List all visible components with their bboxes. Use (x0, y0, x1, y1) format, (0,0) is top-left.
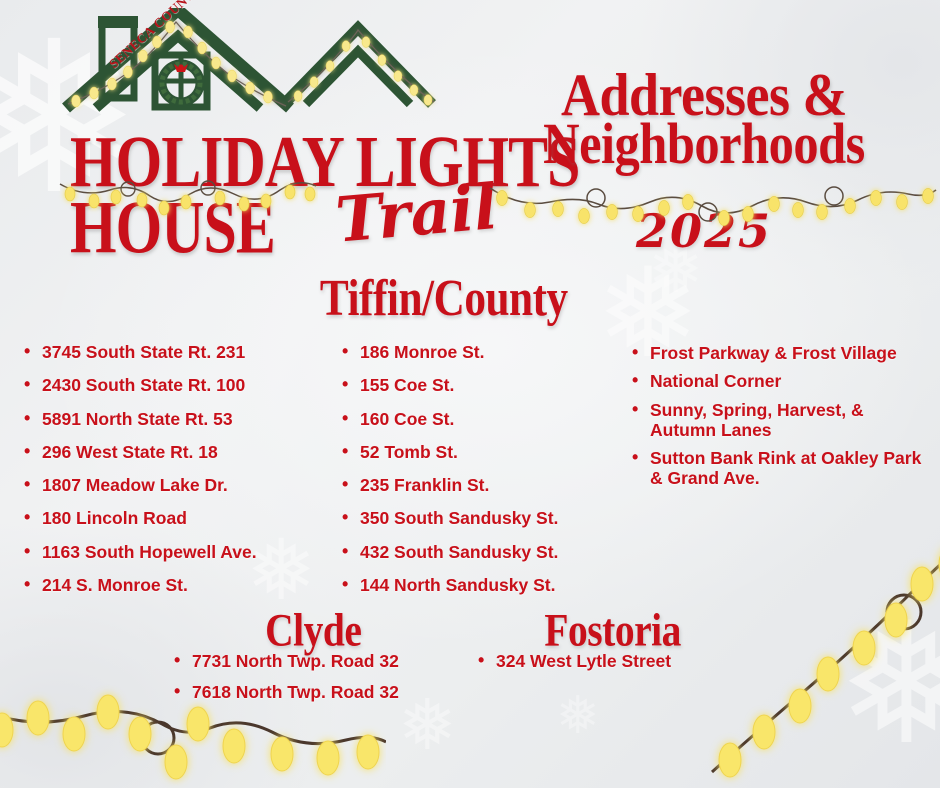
logo-script-word: Trail (333, 170, 500, 257)
list-item: 1807 Meadow Lake Dr. (22, 476, 332, 495)
list-item: Sunny, Spring, Harvest, & Autumn Lanes (630, 400, 930, 441)
list-item: 296 West State Rt. 18 (22, 443, 332, 462)
address-list-tiffin-col2: 186 Monroe St. 155 Coe St. 160 Coe St. 5… (340, 343, 620, 609)
year-label: 2025 (494, 204, 914, 258)
address-list-fostoria: 324 West Lytle Street (476, 652, 776, 685)
list-item: 214 S. Monroe St. (22, 576, 332, 595)
snowflake-icon: ❅ (556, 690, 600, 742)
list-item: 180 Lincoln Road (22, 509, 332, 528)
list-item: Sutton Bank Rink at Oakley Park & Grand … (630, 448, 930, 489)
list-item: Frost Parkway & Frost Village (630, 343, 930, 363)
list-item: 155 Coe St. (340, 376, 620, 395)
list-item: 235 Franklin St. (340, 476, 620, 495)
list-item: National Corner (630, 371, 930, 391)
list-item: 5891 North State Rt. 53 (22, 410, 332, 429)
address-list-tiffin-col3: Frost Parkway & Frost Village National C… (630, 343, 930, 497)
list-item: 52 Tomb St. (340, 443, 620, 462)
logo-title-line2: HOUSE (70, 184, 275, 272)
section-heading-tiffin: Tiffin/County (320, 268, 568, 327)
list-item: 432 South Sandusky St. (340, 543, 620, 562)
address-list-tiffin-col1: 3745 South State Rt. 231 2430 South Stat… (22, 343, 332, 609)
list-item: 7618 North Twp. Road 32 (172, 683, 492, 702)
header-title-group: Addresses & Neighborhoods 2025 (494, 70, 914, 258)
list-item: 160 Coe St. (340, 410, 620, 429)
list-item: 1163 South Hopewell Ave. (22, 543, 332, 562)
list-item: 144 North Sandusky St. (340, 576, 620, 595)
section-heading-fostoria: Fostoria (544, 604, 681, 658)
page-title-line2: Neighborhoods (500, 118, 907, 173)
list-item: 186 Monroe St. (340, 343, 620, 362)
list-item: 2430 South State Rt. 100 (22, 376, 332, 395)
poster-canvas: ❅ ❅ ❅ ❅ ❅ ❅ ❅ (0, 0, 940, 788)
list-item: 324 West Lytle Street (476, 652, 776, 671)
address-list-clyde: 7731 North Twp. Road 32 7618 North Twp. … (172, 652, 492, 715)
snowflake-icon: ❅ (836, 600, 940, 768)
list-item: 3745 South State Rt. 231 (22, 343, 332, 362)
list-item: 7731 North Twp. Road 32 (172, 652, 492, 671)
section-heading-clyde: Clyde (265, 604, 361, 658)
list-item: 350 South Sandusky St. (340, 509, 620, 528)
logo: SENECA COUNTY HOLIDAY LIGHTS HOUSE Trail (58, 8, 478, 258)
